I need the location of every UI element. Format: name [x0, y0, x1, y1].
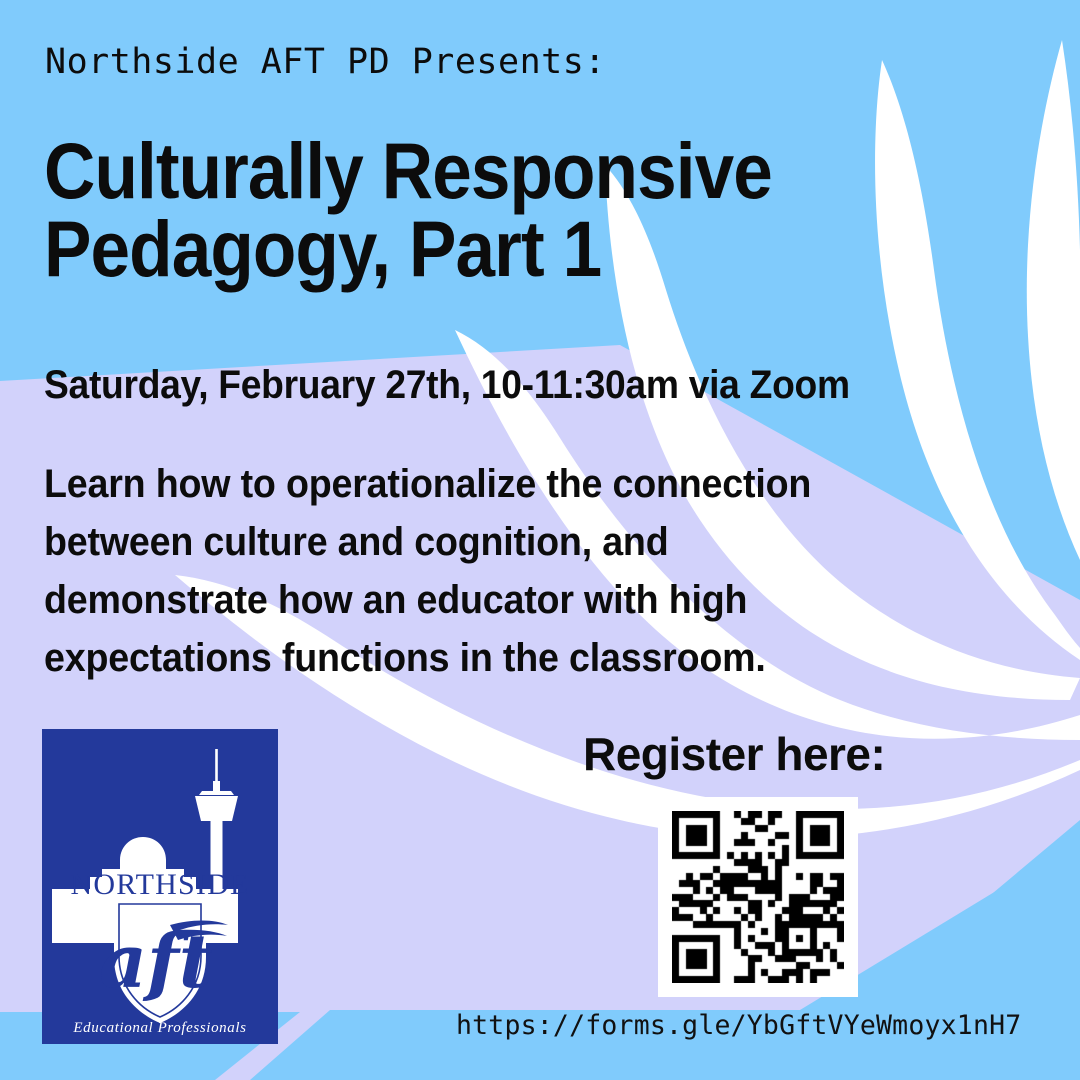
register-here-label: Register here: — [583, 727, 885, 781]
logo-org-name: NORTHSIDE — [71, 868, 250, 901]
poster-canvas: Northside AFT PD Presents: Culturally Re… — [0, 0, 1080, 1080]
qr-code[interactable] — [658, 797, 858, 997]
qr-code-image[interactable] — [672, 811, 844, 983]
logo-tagline: Educational Professionals — [72, 1020, 246, 1036]
event-description-line-3: demonstrate how an educator with high — [44, 571, 946, 629]
registration-url[interactable]: https://forms.gle/YbGftVYeWmoyx1nH7 — [456, 1010, 1021, 1041]
eyebrow-presenter-line: Northside AFT PD Presents: — [45, 42, 606, 82]
event-description-line-1: Learn how to operationalize the connecti… — [44, 455, 946, 513]
event-description: Learn how to operationalize the connecti… — [44, 455, 946, 687]
page-title-line-2: Pedagogy, Part 1 — [44, 204, 601, 293]
event-description-line-2: between culture and cognition, and — [44, 513, 946, 571]
page-title-line-1: Culturally Responsive — [44, 126, 772, 215]
event-description-line-4: expectations functions in the classroom. — [44, 629, 946, 687]
northside-aft-logo: NORTHSIDE aft Educational Professionals — [42, 729, 278, 1044]
event-datetime: Saturday, February 27th, 10-11:30am via … — [44, 364, 983, 406]
page-title: Culturally Responsive Pedagogy, Part 1 — [44, 132, 836, 288]
